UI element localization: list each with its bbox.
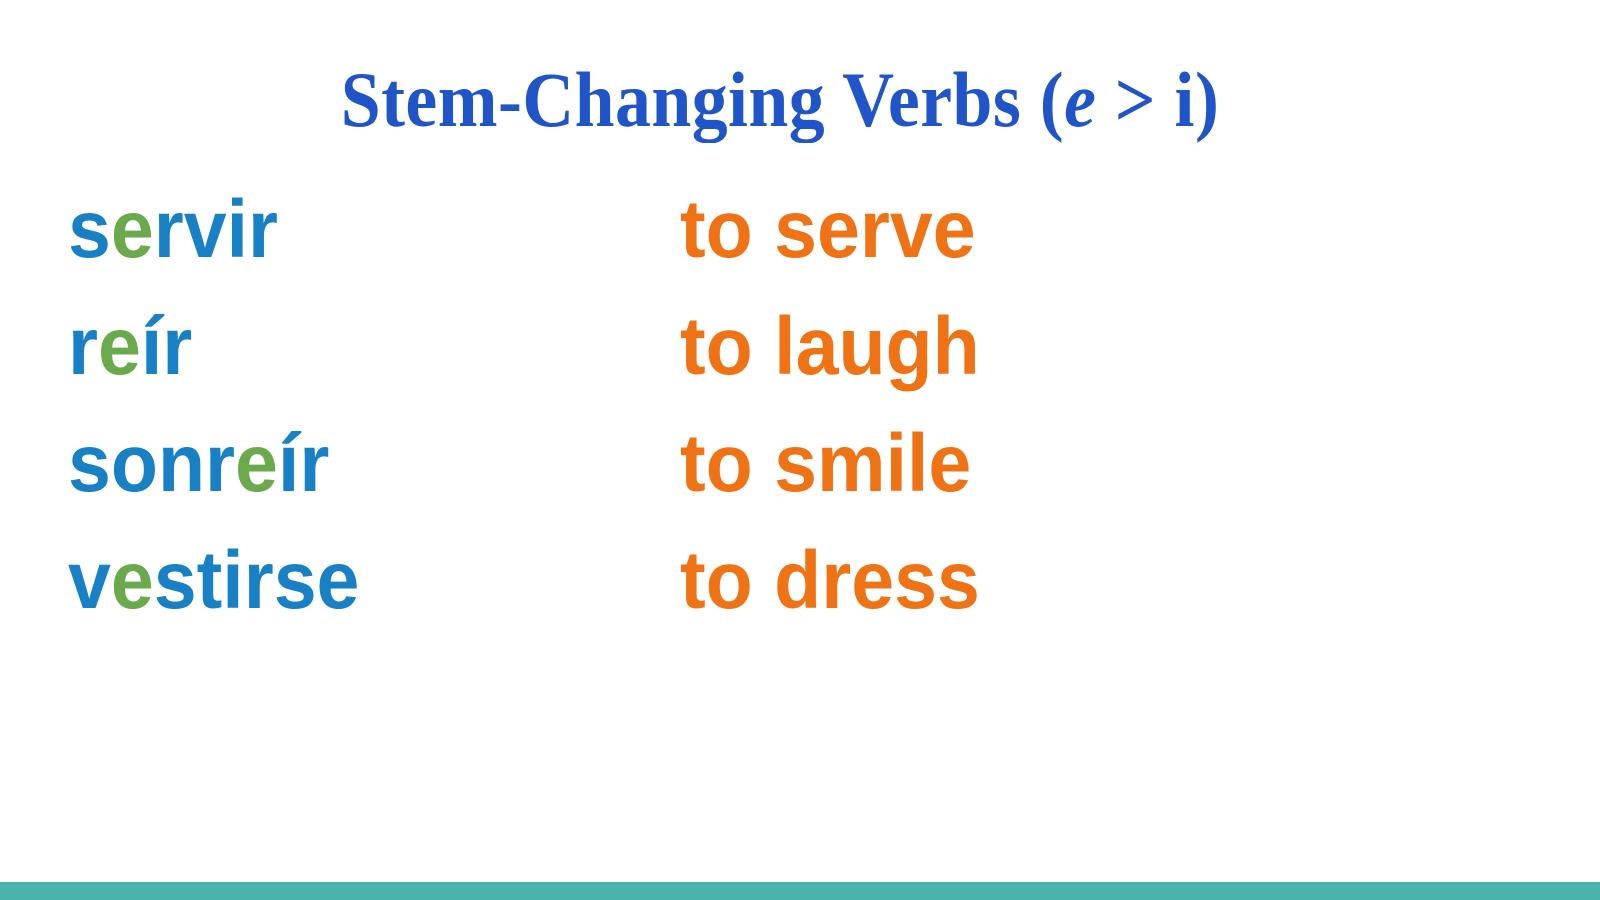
list-item: vestirse to dress [0, 527, 1600, 644]
term-suffix: rvir [154, 184, 278, 275]
spanish-term: vestirse [68, 527, 359, 635]
slide-canvas: Stem-Changing Verbs (e > i) servir to se… [0, 0, 1600, 900]
term-prefix: v [68, 535, 111, 626]
page-title: Stem-Changing Verbs (e > i) [62, 52, 1497, 148]
term-stem-vowel: e [98, 301, 141, 392]
list-item: sonreír to smile [0, 410, 1600, 527]
term-suffix: ír [278, 418, 329, 509]
term-prefix: s [68, 184, 111, 275]
term-prefix: r [68, 301, 98, 392]
spanish-term: servir [68, 176, 278, 284]
vocabulary-list: servir to serve reír to laugh sonreír to… [0, 176, 1600, 644]
english-definition: to smile [680, 410, 971, 518]
term-suffix: ír [141, 301, 192, 392]
english-definition: to serve [680, 176, 976, 284]
list-item: reír to laugh [0, 293, 1600, 410]
list-item: servir to serve [0, 176, 1600, 293]
term-stem-vowel: e [235, 418, 278, 509]
term-prefix: sonr [68, 418, 235, 509]
english-definition: to dress [680, 527, 980, 635]
english-definition: to laugh [680, 293, 980, 401]
spanish-term: reír [68, 293, 192, 401]
title-text-after-italic: > i) [1096, 56, 1219, 143]
term-suffix: stirse [154, 535, 360, 626]
term-stem-vowel: e [111, 535, 154, 626]
title-stem-vowel-italic: e [1064, 56, 1096, 143]
bottom-accent-bar [0, 882, 1600, 900]
title-text-before-italic: Stem-Changing Verbs ( [341, 56, 1064, 143]
spanish-term: sonreír [68, 410, 329, 518]
term-stem-vowel: e [111, 184, 154, 275]
